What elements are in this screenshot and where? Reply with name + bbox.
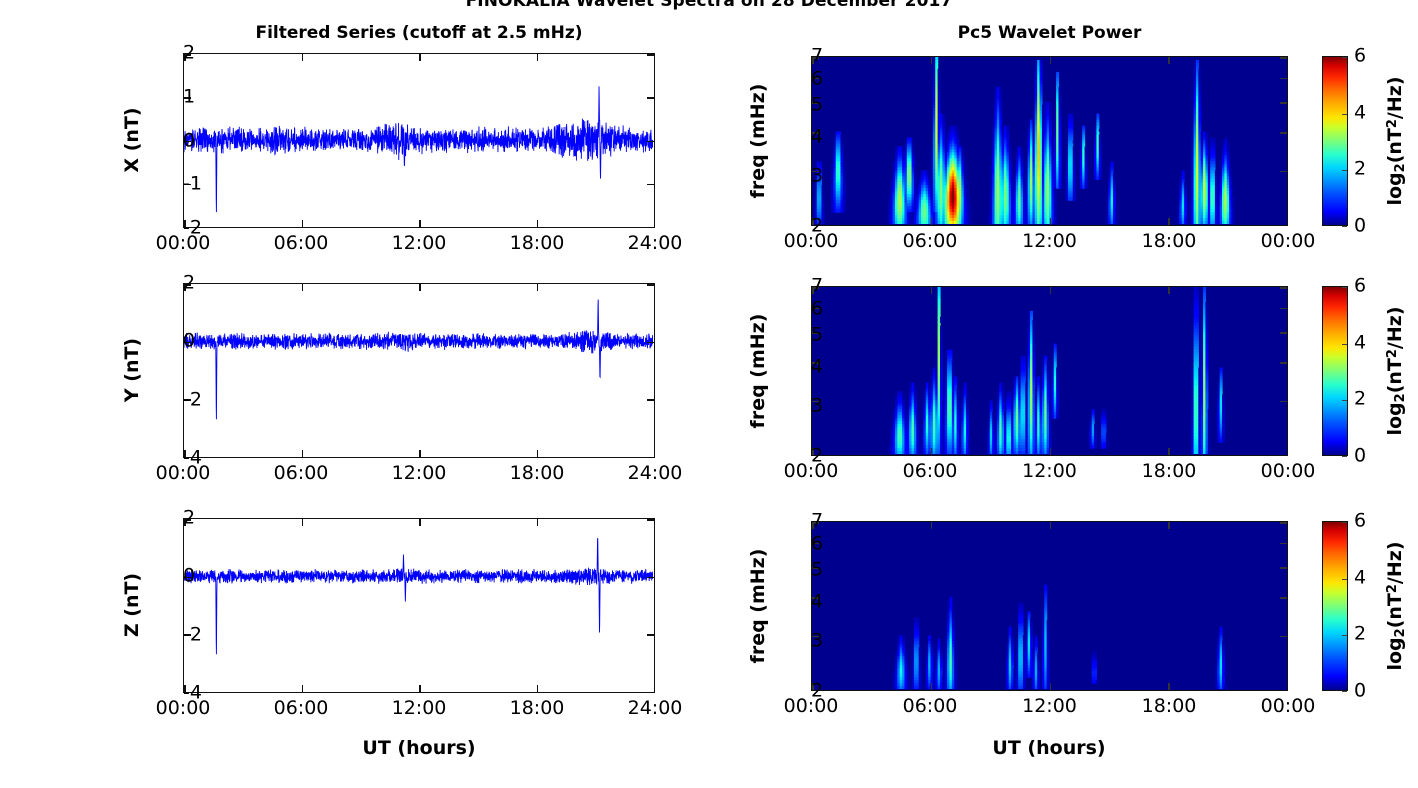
tick-mark bbox=[647, 97, 654, 99]
tick-mark bbox=[1168, 287, 1170, 294]
colorbar-label-z: log2(nT2/Hz) bbox=[1384, 541, 1408, 670]
tick-mark bbox=[1280, 455, 1287, 456]
tick-mark bbox=[302, 450, 304, 457]
tick-mark bbox=[302, 54, 304, 61]
ylabel-x: X (nT) bbox=[121, 107, 143, 172]
timeseries-plot-z bbox=[184, 519, 653, 691]
tick-mark bbox=[1287, 218, 1288, 225]
tick-mark bbox=[647, 284, 654, 286]
ylabel-y: Y (nT) bbox=[121, 338, 143, 402]
tick-mark bbox=[1050, 57, 1052, 64]
tick-mark bbox=[1050, 287, 1052, 294]
tick-mark bbox=[419, 54, 421, 61]
tick-mark bbox=[537, 284, 539, 291]
tick-mark bbox=[1280, 332, 1287, 334]
right-column-title: Pc5 Wavelet Power bbox=[811, 23, 1288, 43]
tick-mark bbox=[1168, 57, 1170, 64]
tick-mark bbox=[931, 448, 933, 455]
axes-wavelet-power-y bbox=[811, 286, 1288, 456]
tick-mark bbox=[302, 284, 304, 291]
tick-mark bbox=[1280, 171, 1287, 173]
tick-mark bbox=[931, 57, 933, 64]
xlabel-right: UT (hours) bbox=[992, 737, 1105, 759]
tick-mark bbox=[1280, 132, 1287, 134]
tick-mark bbox=[302, 685, 304, 692]
tick-mark bbox=[419, 220, 421, 227]
colorbar-x bbox=[1322, 56, 1348, 226]
colorbar-y bbox=[1322, 286, 1348, 456]
left-column-title: Filtered Series (cutoff at 2.5 mHz) bbox=[183, 23, 655, 43]
colorbar-label-y: log2(nT2/Hz) bbox=[1384, 306, 1408, 435]
tick-mark bbox=[647, 184, 654, 186]
tick-mark bbox=[647, 399, 654, 401]
figure-canvas: FINOKALIA Wavelet Spectra on 28 December… bbox=[0, 0, 1418, 788]
tick-mark bbox=[1280, 567, 1287, 569]
tick-mark bbox=[1168, 683, 1170, 690]
tick-mark bbox=[1287, 287, 1288, 294]
timeseries-plot-y bbox=[184, 284, 653, 456]
tick-mark bbox=[1287, 522, 1288, 529]
tick-mark bbox=[647, 634, 654, 636]
tick-mark bbox=[1287, 683, 1288, 690]
tick-mark bbox=[419, 450, 421, 457]
tick-mark bbox=[537, 519, 539, 526]
timeseries-plot-x bbox=[184, 54, 653, 226]
tick-mark bbox=[302, 519, 304, 526]
tick-mark bbox=[1280, 543, 1287, 545]
freq-label-z: freq (mHz) bbox=[747, 549, 769, 664]
tick-mark bbox=[1280, 102, 1287, 104]
tick-mark bbox=[1050, 683, 1052, 690]
axes-filtered-series-x bbox=[183, 53, 655, 228]
tick-mark bbox=[1280, 636, 1287, 638]
tick-mark bbox=[654, 450, 655, 457]
spectrogram-z bbox=[812, 522, 1286, 689]
tick-mark bbox=[302, 220, 304, 227]
xlabel-left: UT (hours) bbox=[362, 737, 475, 759]
tick-mark bbox=[1168, 522, 1170, 529]
tick-mark bbox=[931, 522, 933, 529]
tick-mark bbox=[647, 577, 654, 579]
tick-mark bbox=[1280, 225, 1287, 226]
tick-mark bbox=[931, 683, 933, 690]
tick-mark bbox=[537, 220, 539, 227]
freq-label-x: freq (mHz) bbox=[747, 84, 769, 199]
axes-wavelet-power-z bbox=[811, 521, 1288, 691]
tick-mark bbox=[1287, 57, 1288, 64]
tick-mark bbox=[647, 227, 654, 228]
colorbar-z bbox=[1322, 521, 1348, 691]
tick-mark bbox=[1280, 57, 1287, 59]
tick-mark bbox=[647, 141, 654, 143]
tick-mark bbox=[1280, 362, 1287, 364]
tick-mark bbox=[419, 284, 421, 291]
tick-mark bbox=[1280, 597, 1287, 599]
axes-filtered-series-z bbox=[183, 518, 655, 693]
tick-mark bbox=[1280, 78, 1287, 80]
tick-mark bbox=[654, 220, 655, 227]
tick-mark bbox=[931, 218, 933, 225]
tick-mark bbox=[654, 685, 655, 692]
axes-wavelet-power-x bbox=[811, 56, 1288, 226]
tick-mark bbox=[1168, 218, 1170, 225]
tick-mark bbox=[1280, 308, 1287, 310]
tick-mark bbox=[537, 685, 539, 692]
tick-mark bbox=[537, 54, 539, 61]
tick-mark bbox=[419, 685, 421, 692]
freq-label-y: freq (mHz) bbox=[747, 314, 769, 429]
tick-mark bbox=[1050, 218, 1052, 225]
tick-mark bbox=[1168, 448, 1170, 455]
tick-mark bbox=[654, 519, 655, 526]
tick-mark bbox=[654, 54, 655, 61]
axes-filtered-series-y bbox=[183, 283, 655, 458]
tick-mark bbox=[1050, 448, 1052, 455]
tick-mark bbox=[647, 54, 654, 56]
tick-mark bbox=[537, 450, 539, 457]
spectrogram-y bbox=[812, 287, 1286, 454]
tick-mark bbox=[1287, 448, 1288, 455]
tick-mark bbox=[419, 519, 421, 526]
tick-mark bbox=[931, 287, 933, 294]
tick-mark bbox=[647, 692, 654, 693]
figure-suptitle: FINOKALIA Wavelet Spectra on 28 December… bbox=[0, 0, 1418, 11]
tick-mark bbox=[1280, 287, 1287, 289]
tick-mark bbox=[1280, 690, 1287, 691]
tick-mark bbox=[1280, 401, 1287, 403]
ylabel-z: Z (nT) bbox=[121, 573, 143, 637]
spectrogram-x bbox=[812, 57, 1286, 224]
tick-mark bbox=[1050, 522, 1052, 529]
tick-mark bbox=[1280, 522, 1287, 524]
tick-mark bbox=[654, 284, 655, 291]
colorbar-label-x: log2(nT2/Hz) bbox=[1384, 76, 1408, 205]
tick-mark bbox=[647, 519, 654, 521]
tick-mark bbox=[647, 342, 654, 344]
tick-mark bbox=[647, 457, 654, 458]
